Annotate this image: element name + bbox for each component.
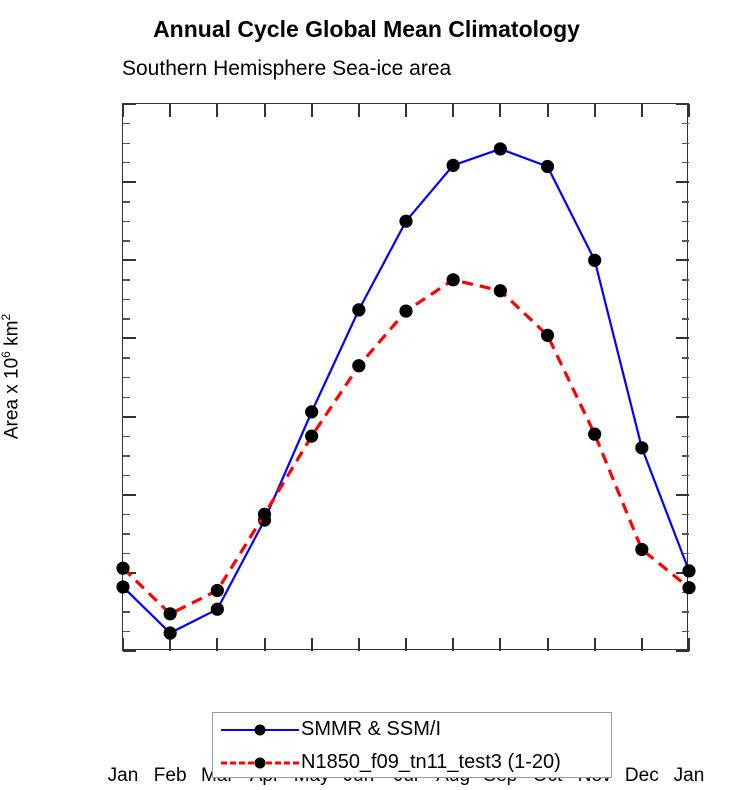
data-point [541, 329, 554, 342]
legend-item[interactable]: SMMR & SSM/I [213, 713, 613, 746]
data-point [258, 508, 271, 521]
x-tick-label: Feb [154, 765, 187, 787]
data-point [116, 580, 129, 593]
legend-label: SMMR & SSM/I [301, 718, 441, 741]
data-point [211, 584, 224, 597]
data-point [399, 304, 412, 317]
legend-item[interactable]: N1850_f09_tn11_test3 (1-20) [213, 746, 613, 779]
x-tick-label: Jan [674, 765, 705, 787]
legend-swatch [221, 720, 299, 740]
data-series-layer [123, 104, 689, 651]
data-point [211, 603, 224, 616]
data-point [494, 284, 507, 297]
data-point [305, 405, 318, 418]
y-axis-label-unit-exponent: 2 [0, 314, 13, 321]
series-2 [116, 273, 695, 620]
data-point [541, 160, 554, 173]
data-point [447, 159, 460, 172]
data-point [447, 273, 460, 286]
x-tick-label: Jan [108, 765, 139, 787]
y-axis-label-unit: km [1, 321, 22, 352]
data-point [682, 581, 695, 594]
data-point [494, 142, 507, 155]
legend-marker-icon [255, 724, 266, 735]
data-point [305, 430, 318, 443]
data-point [682, 564, 695, 577]
data-point [352, 303, 365, 316]
data-point [116, 562, 129, 575]
data-point [588, 254, 601, 267]
legend-label: N1850_f09_tn11_test3 (1-20) [301, 751, 561, 774]
data-point [352, 359, 365, 372]
data-point [635, 441, 648, 454]
series-line [123, 280, 689, 614]
figure-canvas: Annual Cycle Global Mean Climatology Sou… [0, 0, 733, 790]
y-axis-label-exponent: 6 [0, 351, 13, 358]
plot-area: 246810121416 JanFebMarAprMayJunJulAugSep… [122, 103, 688, 650]
chart-title: Annual Cycle Global Mean Climatology [0, 16, 733, 43]
y-axis-label: Area x 106 km2 [0, 103, 28, 650]
legend-marker-icon [255, 757, 266, 768]
x-tick-label: Dec [625, 765, 659, 787]
data-point [164, 607, 177, 620]
data-point [635, 543, 648, 556]
data-point [164, 626, 177, 639]
data-point [588, 428, 601, 441]
y-axis-label-base: Area x 10 [1, 358, 22, 439]
legend-swatch [221, 753, 299, 773]
legend: SMMR & SSM/IN1850_f09_tn11_test3 (1-20) [212, 712, 612, 778]
series-1 [116, 142, 695, 639]
chart-subtitle: Southern Hemisphere Sea-ice area [122, 57, 451, 81]
data-point [399, 215, 412, 228]
